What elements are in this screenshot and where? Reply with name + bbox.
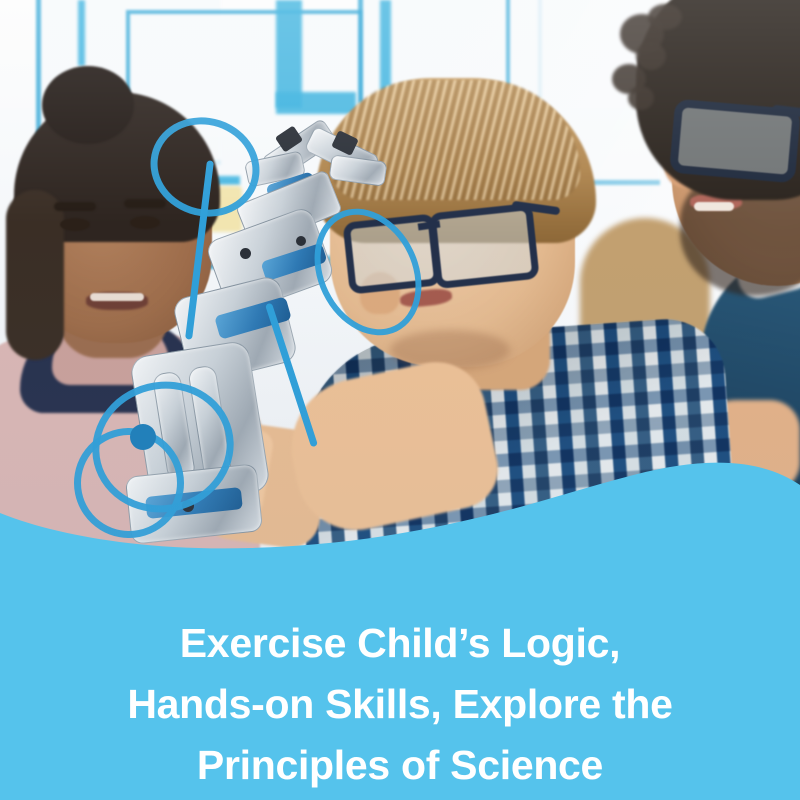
robot-joint-bolt-2 <box>296 236 306 246</box>
headline: Exercise Child’s Logic, Hands-on Skills,… <box>0 613 800 796</box>
robot-claw-finger-right-tip <box>329 154 388 187</box>
robot-tube-run-diagonal <box>265 303 318 448</box>
robot-joint-bolt-1 <box>240 248 251 259</box>
wave-divider <box>0 430 800 570</box>
wave-path <box>0 463 800 570</box>
promo-banner: Exercise Child’s Logic, Hands-on Skills,… <box>0 0 800 800</box>
